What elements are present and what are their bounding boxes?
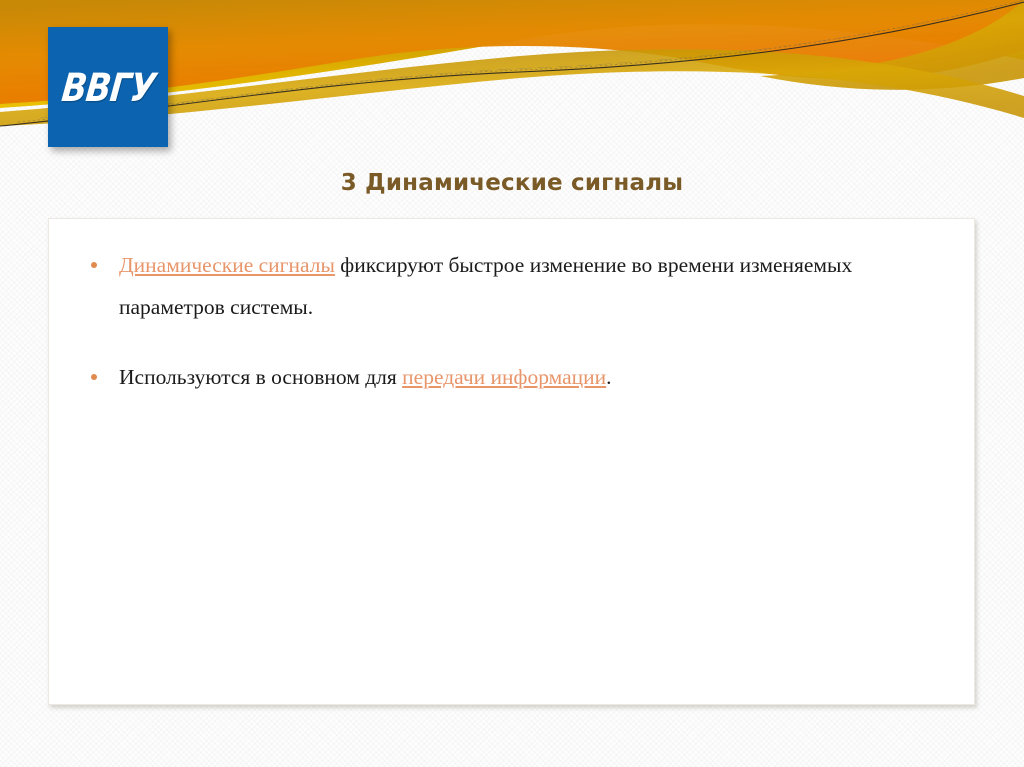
vvgu-logo: ВВГУ <box>48 27 168 147</box>
page-title: 3 Динамические сигналы <box>0 170 1024 196</box>
list-item-text-lead: Используются в основном для <box>119 365 402 389</box>
list-item: Используются в основном для передачи инф… <box>67 357 940 399</box>
content-panel: Динамические сигналы фиксируют быстрое и… <box>48 218 975 705</box>
bullet-list: Динамические сигналы фиксируют быстрое и… <box>67 245 940 399</box>
hyperlink-dynamic-signals[interactable]: Динамические сигналы <box>119 253 335 277</box>
vvgu-logo-text: ВВГУ <box>59 64 157 110</box>
list-item-text-tail: . <box>606 365 611 389</box>
hyperlink-information-transfer[interactable]: передачи информации <box>402 365 606 389</box>
presentation-slide: ВВГУ 3 Динамические сигналы Динамические… <box>0 0 1024 767</box>
list-item: Динамические сигналы фиксируют быстрое и… <box>67 245 940 329</box>
